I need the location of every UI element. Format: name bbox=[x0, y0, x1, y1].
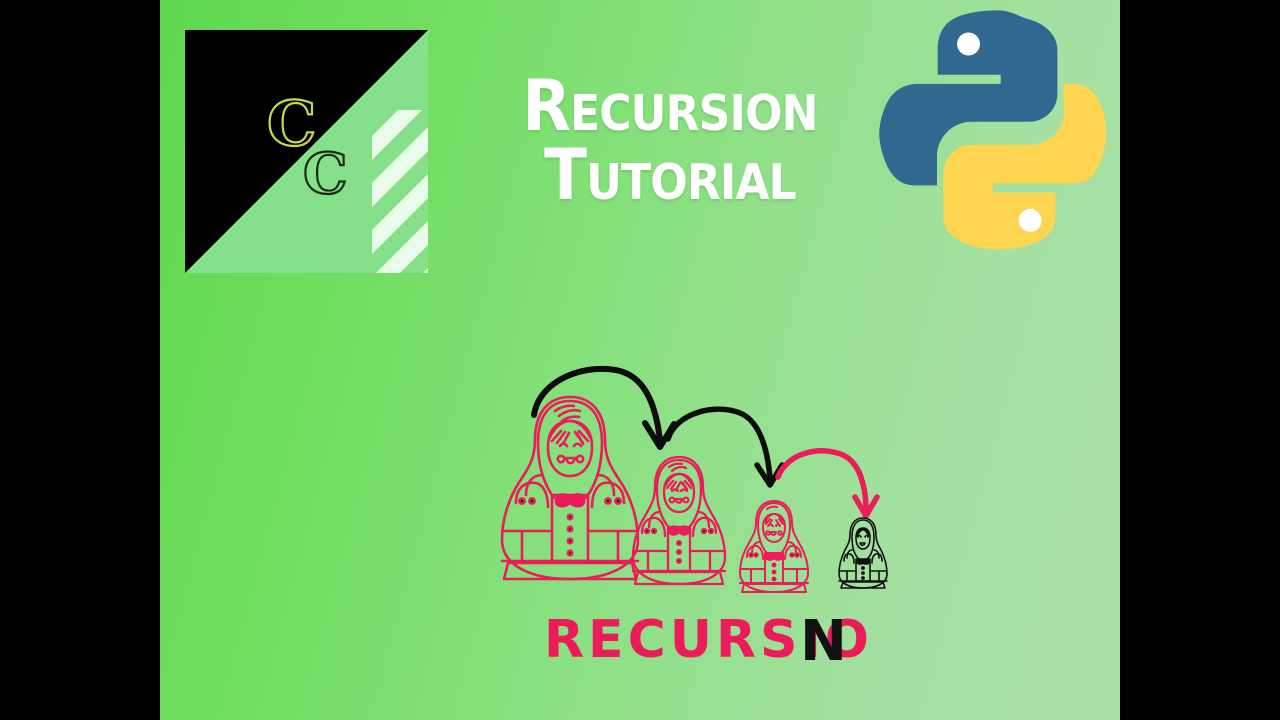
recursion-illustration: RECURSIO N bbox=[460, 355, 900, 700]
doll-3 bbox=[740, 501, 808, 592]
page-title: Recursion Tutorial bbox=[460, 72, 880, 209]
arrow-2-icon bbox=[668, 409, 782, 485]
doll-1-largest bbox=[502, 397, 638, 579]
title-line-2: Tutorial bbox=[481, 141, 859, 210]
title-line-1: Recursion bbox=[481, 72, 859, 141]
caption-recursion-black: N bbox=[800, 609, 847, 674]
video-thumbnail: C C Recursion Tutorial bbox=[0, 0, 1280, 720]
logo-letter-c-lower: C bbox=[303, 141, 348, 207]
doll-4-smallest bbox=[839, 518, 887, 588]
letterbox-bar-left bbox=[0, 0, 160, 720]
channel-logo: C C bbox=[185, 30, 428, 273]
arrow-3-icon bbox=[778, 451, 877, 516]
doll-2 bbox=[633, 457, 725, 584]
python-logo bbox=[860, 0, 1120, 268]
thumbnail-content: C C Recursion Tutorial bbox=[160, 0, 1120, 720]
letterbox-bar-right bbox=[1120, 0, 1280, 720]
